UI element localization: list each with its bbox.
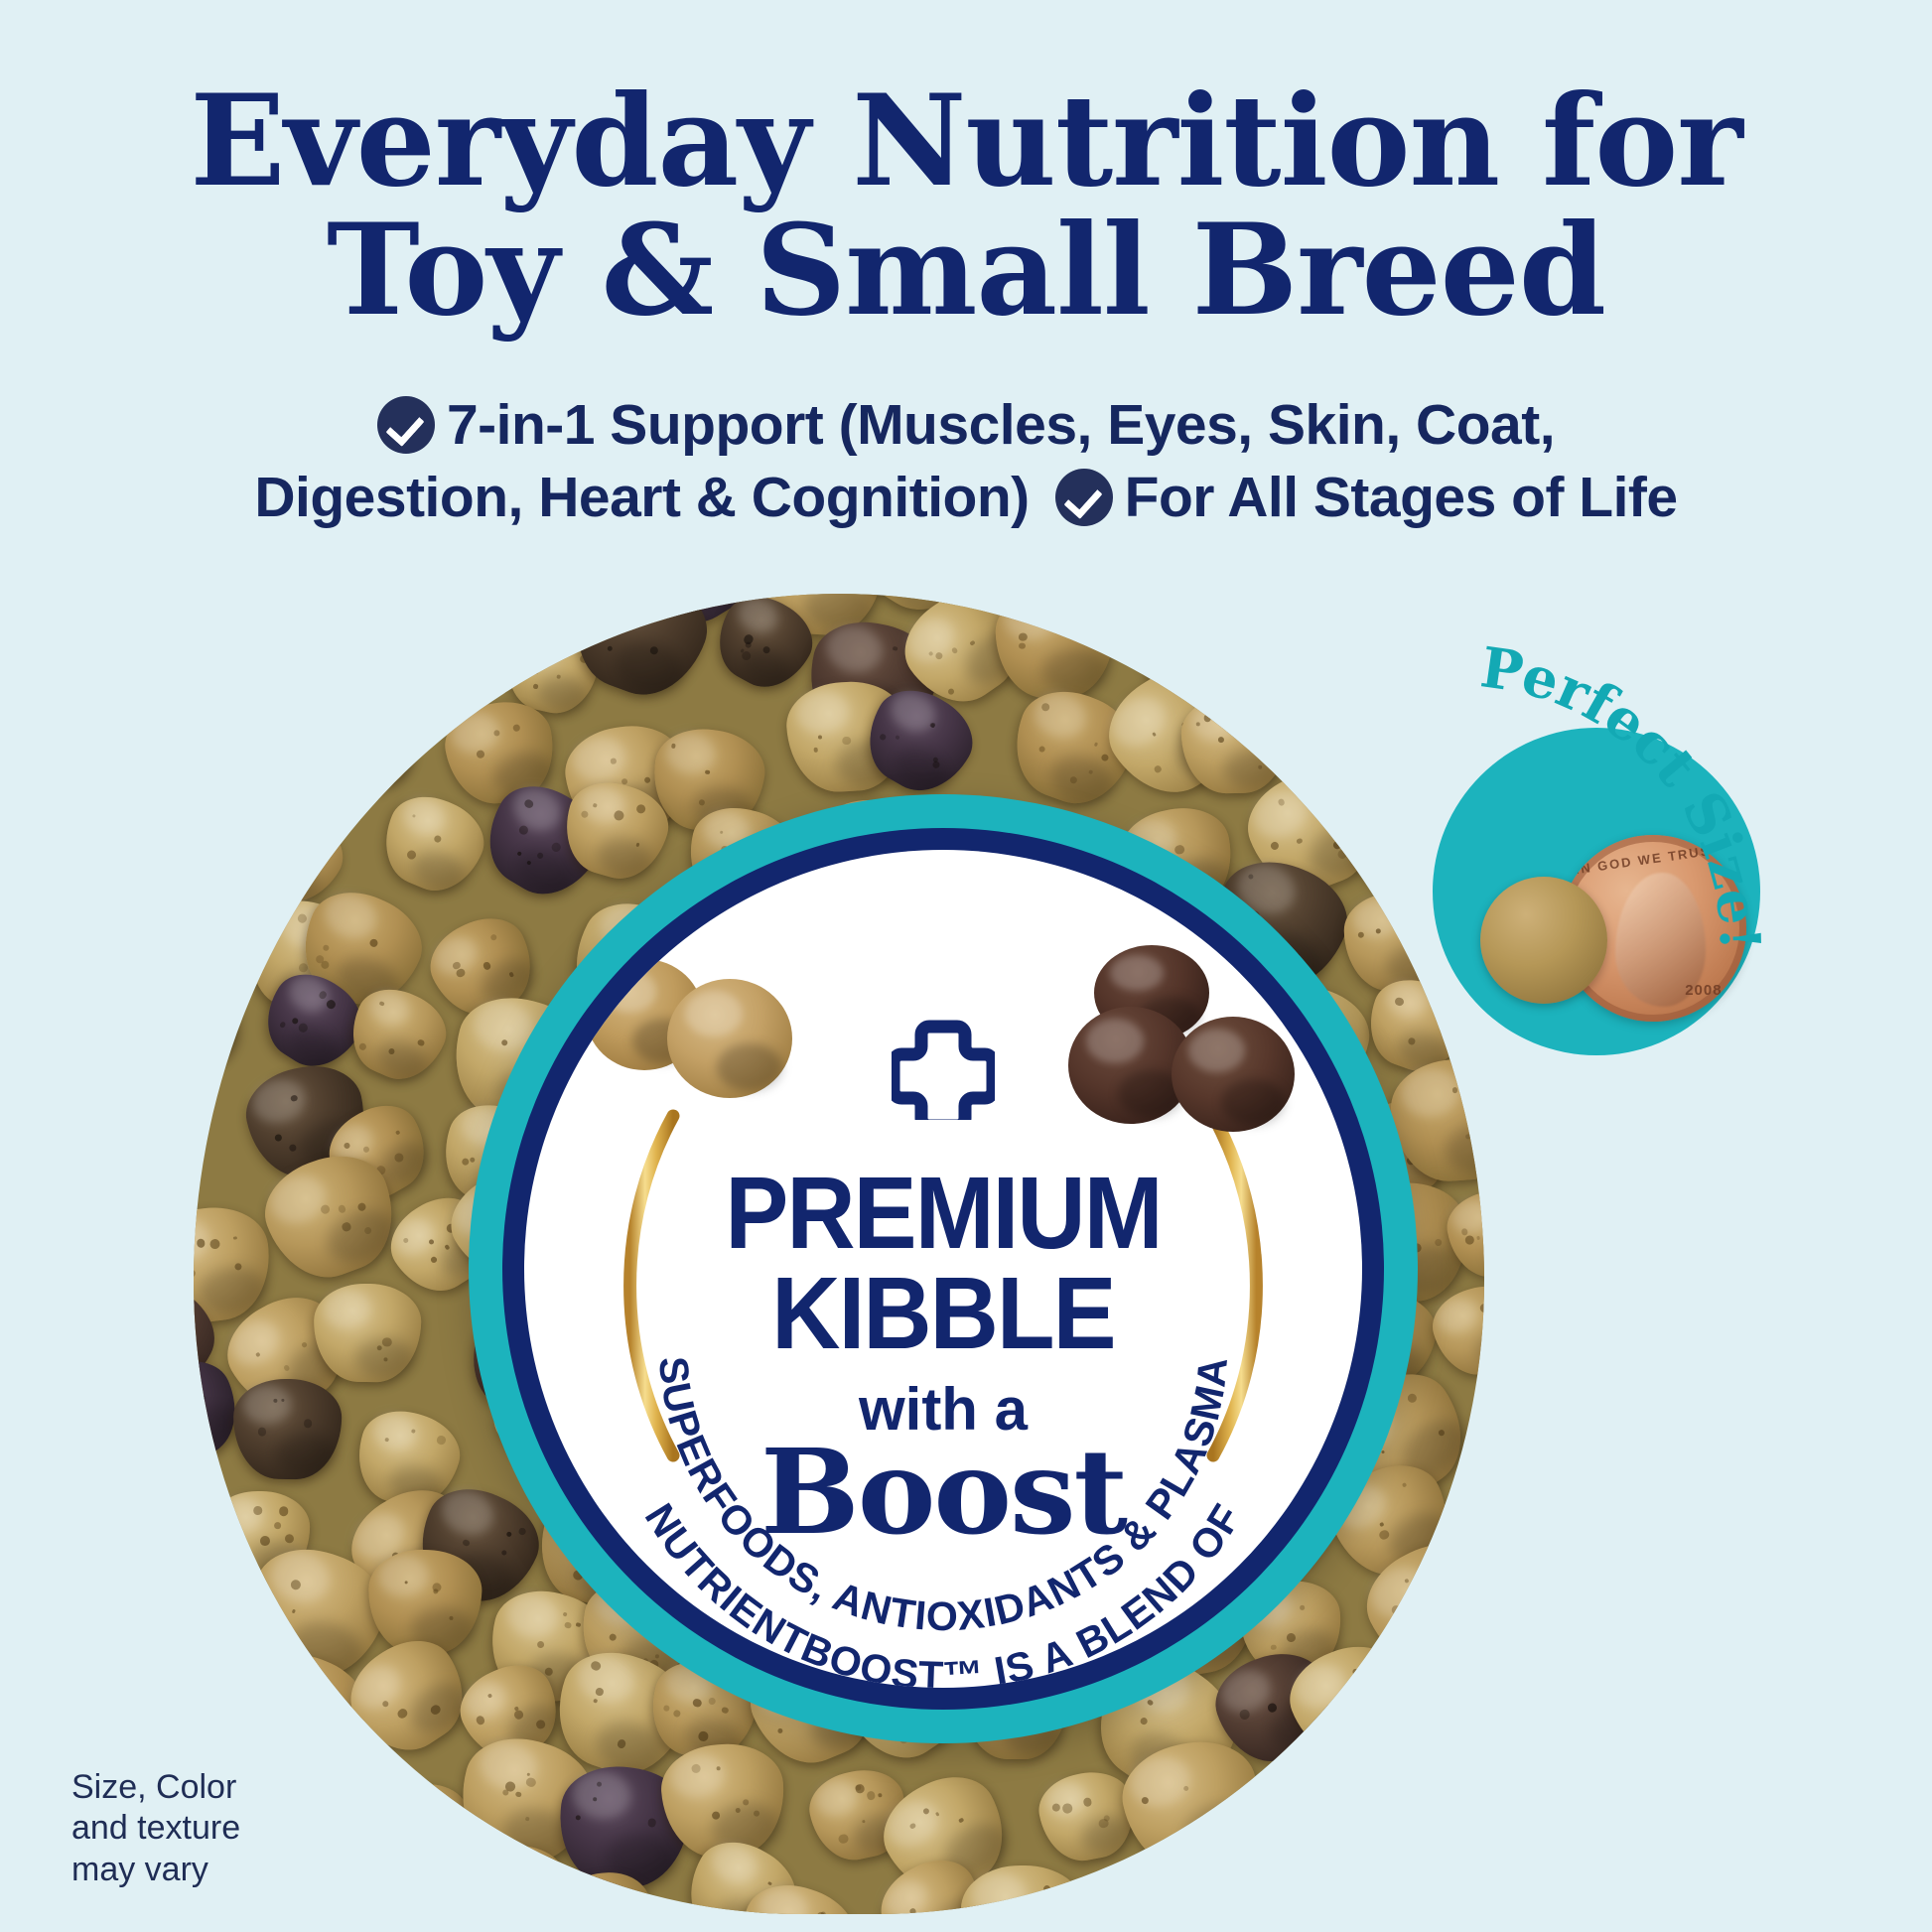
kibble-piece	[1416, 1654, 1484, 1762]
badge-content: PREMIUM KIBBLE with a Boost NUTRIENTBOOS…	[524, 850, 1362, 1688]
kibble-piece	[194, 594, 204, 637]
bullet-1-label-cont: Digestion, Heart & Cognition)	[254, 466, 1029, 529]
page-title: Everyday Nutrition for Toy & Small Breed	[0, 77, 1932, 336]
kibble-piece	[194, 956, 251, 1084]
disclaimer-line-1: Size, Color	[71, 1767, 240, 1808]
product-marketing-image: Everyday Nutrition for Toy & Small Breed…	[0, 0, 1932, 1932]
bullet-1-label: 7-in-1 Support (Muscles, Eyes, Skin, Coa…	[447, 393, 1555, 457]
check-circle-icon	[377, 396, 435, 454]
plus-cross-icon	[892, 1017, 995, 1125]
coin-motto: IN GOD WE TRUST	[1575, 842, 1722, 877]
disclaimer-line-2: and texture	[71, 1808, 240, 1849]
bullet-2-label: For All Stages of Life	[1125, 466, 1678, 529]
light-kibble-cluster	[586, 953, 804, 1102]
headline-line-1: Everyday Nutrition for	[190, 68, 1741, 214]
disclaimer-line-3: may vary	[71, 1850, 240, 1890]
disclaimer-text: Size, Color and texture may vary	[71, 1767, 240, 1890]
badge-title-premium: PREMIUM	[554, 1164, 1333, 1264]
kibble-piece	[233, 1379, 344, 1480]
kibble-piece	[367, 1548, 483, 1656]
bullet-row-1: 7-in-1 Support (Muscles, Eyes, Skin, Coa…	[0, 389, 1932, 462]
kibble-piece	[995, 594, 1115, 699]
kibble-piece	[1330, 594, 1449, 691]
badge-title-block: PREMIUM KIBBLE with a Boost	[524, 1164, 1362, 1548]
premium-kibble-badge: PREMIUM KIBBLE with a Boost NUTRIENTBOOS…	[469, 794, 1418, 1743]
badge-title-boost: Boost	[524, 1436, 1362, 1548]
bullet-row-2: Digestion, Heart & Cognition)For All Sta…	[0, 462, 1932, 534]
kibble-piece	[395, 594, 502, 685]
kibble-piece	[1181, 696, 1289, 794]
kibble-piece	[194, 1087, 195, 1188]
single-kibble-piece	[1480, 877, 1607, 1004]
check-circle-icon-2	[1055, 469, 1113, 526]
perfect-size-badge: IN GOD WE TRUST 2008	[1433, 728, 1760, 1055]
dark-kibble-cluster	[1060, 945, 1309, 1119]
headline-line-2: Toy & Small Breed	[0, 207, 1932, 336]
feature-bullets: 7-in-1 Support (Muscles, Eyes, Skin, Coa…	[0, 389, 1932, 534]
coin-year: 2008	[1685, 982, 1722, 999]
badge-title-kibble: KIBBLE	[554, 1264, 1333, 1364]
kibble-piece	[370, 784, 494, 904]
